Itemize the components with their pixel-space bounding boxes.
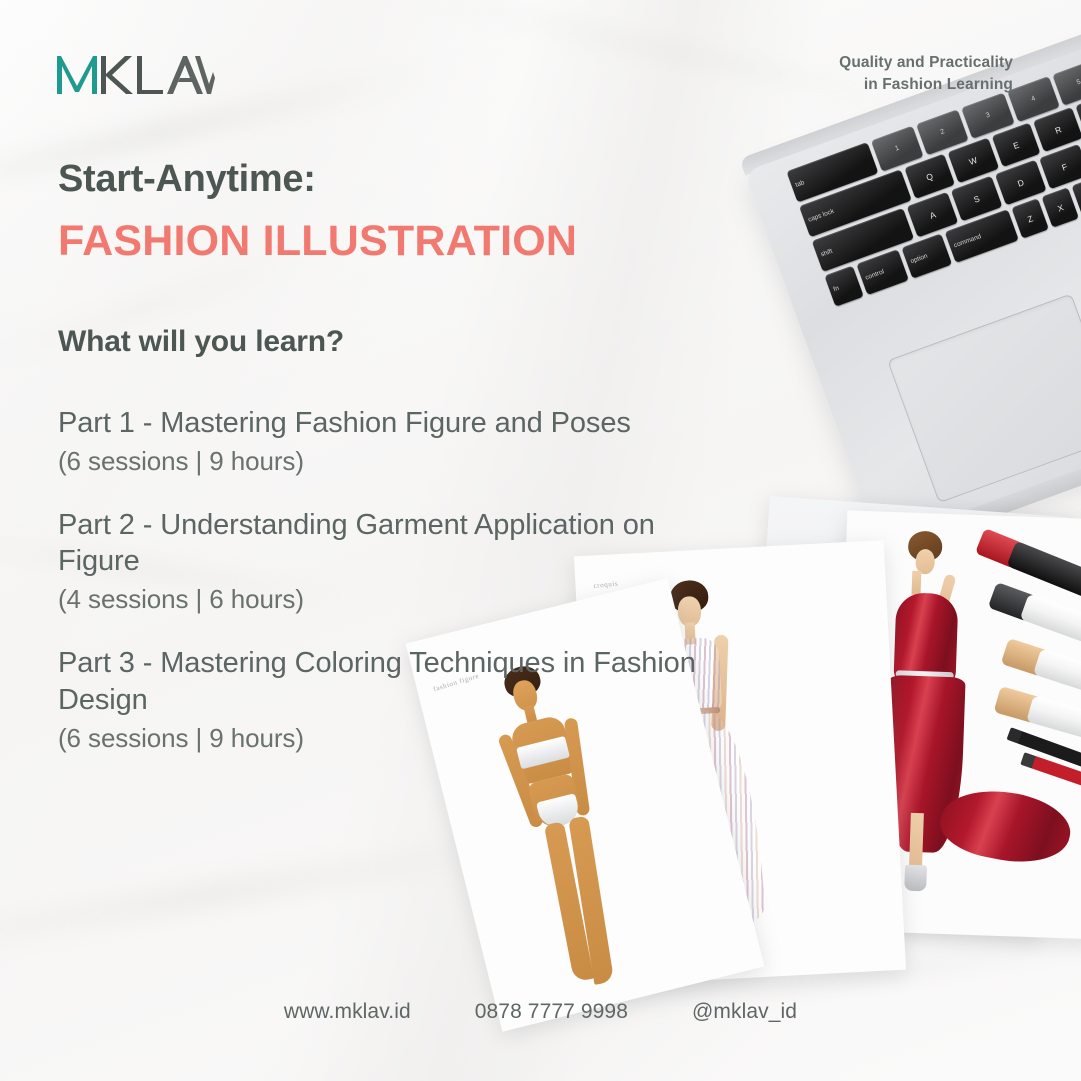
headline-block: Start-Anytime: FASHION ILLUSTRATION — [58, 158, 577, 267]
footer-website[interactable]: www.mklav.id — [284, 1000, 411, 1024]
tagline-line-2: in Fashion Learning — [839, 74, 1013, 96]
part-title: Part 1 - Mastering Fashion Figure and Po… — [58, 405, 738, 442]
poster-canvas: tab 1 2 3 4 5 6 7 caps lock Q W E R T Y … — [0, 0, 1081, 1081]
section-question: What will you learn? — [58, 325, 344, 359]
part-meta: (6 sessions | 9 hours) — [58, 445, 738, 479]
part-meta: (6 sessions | 9 hours) — [58, 722, 738, 756]
headline-title: FASHION ILLUSTRATION — [58, 216, 577, 268]
red-gown-leg — [909, 813, 924, 871]
course-parts-list: Part 1 - Mastering Fashion Figure and Po… — [58, 405, 738, 756]
footer-instagram[interactable]: @mklav_id — [692, 1000, 797, 1024]
red-gown-neck — [912, 571, 922, 595]
red-gown-shoe — [904, 865, 927, 892]
tagline-line-1: Quality and Practicality — [839, 52, 1013, 74]
course-part-item: Part 2 - Understanding Garment Applicati… — [58, 507, 738, 617]
footer-contact-bar: www.mklav.id 0878 7777 9998 @mklav_id — [0, 1000, 1081, 1024]
brand-logo[interactable]: MKLAV — [55, 50, 215, 96]
part-meta: (4 sessions | 6 hours) — [58, 583, 738, 617]
part-title: Part 3 - Mastering Coloring Techniques i… — [58, 645, 738, 719]
headline-eyebrow: Start-Anytime: — [58, 158, 577, 202]
footer-phone[interactable]: 0878 7777 9998 — [475, 1000, 628, 1024]
mklav-logo-icon — [55, 50, 215, 98]
course-part-item: Part 1 - Mastering Fashion Figure and Po… — [58, 405, 738, 479]
part-title: Part 2 - Understanding Garment Applicati… — [58, 507, 738, 581]
course-part-item: Part 3 - Mastering Coloring Techniques i… — [58, 645, 738, 755]
art-tools-photo — [975, 520, 1081, 770]
brand-tagline: Quality and Practicality in Fashion Lear… — [839, 52, 1013, 97]
